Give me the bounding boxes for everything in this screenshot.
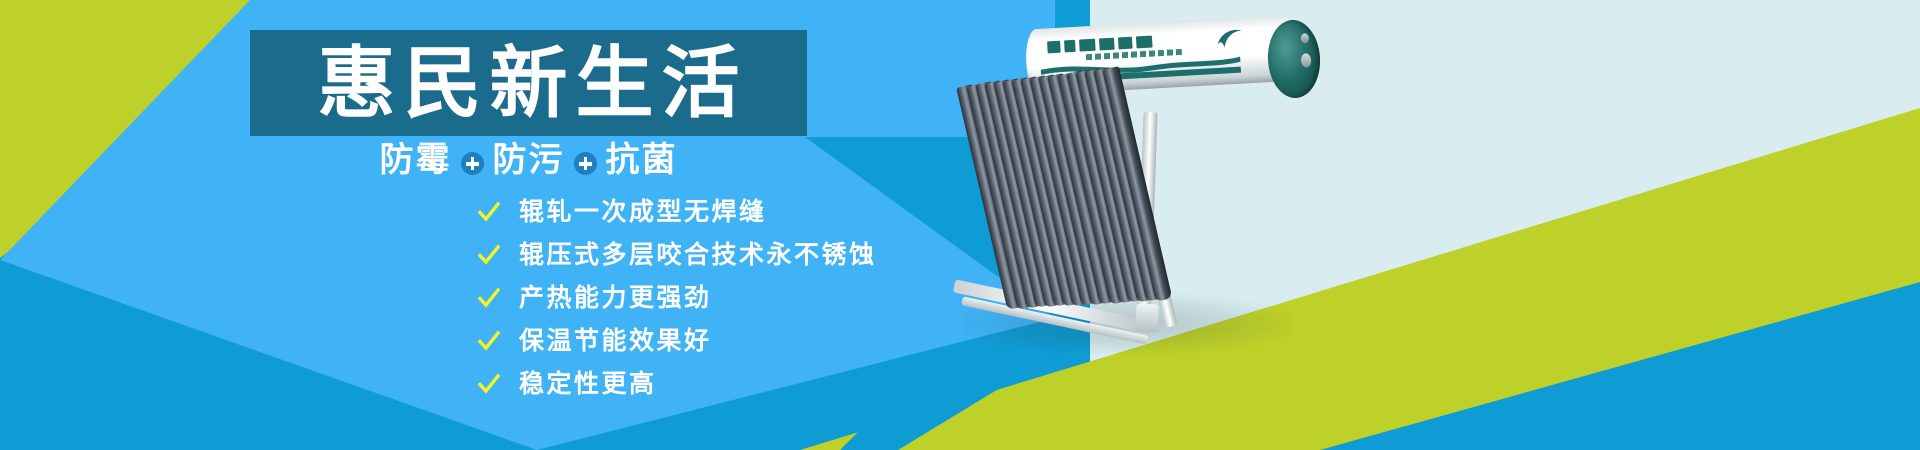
tagline-word-3: 抗菌	[606, 143, 678, 177]
list-item-label: 稳定性更高	[519, 372, 657, 397]
plus-circle-icon	[574, 152, 597, 175]
feature-list: 辊轧一次成型无焊缝 辊压式多层咬合技术永不锈蚀 产热能力更强劲 保温节能效果好 …	[478, 196, 877, 411]
list-item-label: 辊轧一次成型无焊缝	[519, 200, 767, 225]
tank-vent-icon	[1301, 33, 1310, 43]
check-icon	[478, 201, 500, 223]
check-icon	[478, 330, 500, 352]
list-item-label: 产热能力更强劲	[519, 286, 712, 311]
frame-rear-foot	[1136, 304, 1159, 333]
plus-circle-icon	[461, 152, 484, 175]
promo-banner: 惠民新生活 防霉 防污 抗菌 辊轧一次成型无焊缝 辊压式多层咬合技术永不锈蚀 产…	[0, 0, 1920, 450]
page-title: 惠民新生活	[309, 44, 747, 122]
headline-box: 惠民新生活	[250, 30, 807, 136]
check-icon	[478, 244, 500, 266]
list-item: 保温节能效果好	[478, 325, 877, 357]
list-item-label: 辊压式多层咬合技术永不锈蚀	[519, 243, 877, 268]
list-item: 稳定性更高	[478, 368, 877, 400]
list-item: 辊压式多层咬合技术永不锈蚀	[478, 239, 877, 271]
tank-valve-icon	[1301, 53, 1312, 68]
check-icon	[478, 373, 500, 395]
collector-tubes	[952, 66, 1372, 366]
list-item: 辊轧一次成型无焊缝	[478, 196, 877, 228]
tagline-word-1: 防霉	[380, 143, 452, 177]
check-icon	[478, 287, 500, 309]
tagline: 防霉 防污 抗菌	[250, 143, 807, 177]
tagline-word-2: 防污	[493, 143, 565, 177]
product-image-solar-water-heater	[952, 8, 1472, 380]
wave-swirl-icon	[1215, 26, 1246, 52]
list-item-label: 保温节能效果好	[519, 329, 712, 354]
list-item: 产热能力更强劲	[478, 282, 877, 314]
